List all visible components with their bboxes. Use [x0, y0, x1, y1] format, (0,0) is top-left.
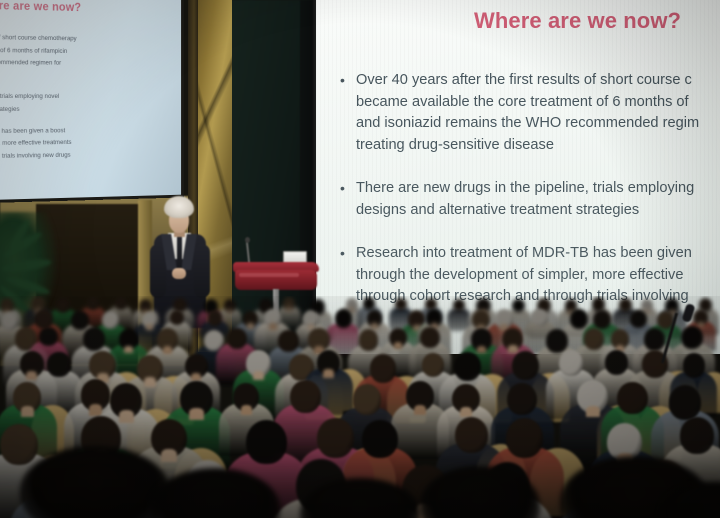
slide-bullet-group: •There are new drugs in the pipeline, tr… — [340, 178, 720, 221]
side-slide-line: ns the WHO recommended regimen for — [0, 57, 176, 71]
slide-bullet-line: treating drug-sensitive disease — [356, 135, 699, 157]
audience-person-neck — [189, 408, 204, 420]
audience-person-head — [246, 420, 287, 464]
audience-person-head — [454, 352, 481, 381]
audience-person-head — [87, 297, 99, 310]
speaker-right-arm — [194, 244, 210, 298]
audience-person-head — [570, 309, 588, 328]
audience-person-neck — [161, 449, 177, 463]
audience-person-neck — [119, 410, 134, 422]
audience-person-neck — [247, 323, 254, 329]
audience-person-head — [115, 297, 127, 310]
main-slide-body: •Over 40 years after the first results o… — [340, 70, 720, 330]
side-slide-line: tive treatment strategies — [0, 104, 176, 117]
audience-person-head — [359, 329, 379, 350]
audience-person-head — [512, 351, 539, 380]
audience-person-neck — [508, 345, 517, 353]
audience-person-neck — [253, 371, 264, 380]
audience-person-head — [546, 329, 568, 352]
slide-bullet-text: Over 40 years after the first results of… — [356, 70, 699, 156]
audience-person-neck — [146, 324, 153, 330]
audience-person-neck — [269, 323, 277, 330]
audience-person-head — [353, 384, 382, 415]
audience-person-head — [395, 298, 407, 311]
audience-person-head — [644, 328, 665, 351]
side-slide-body: the first results of short course chemot… — [0, 31, 176, 173]
audience-person-head — [593, 310, 611, 329]
audience-person-neck — [323, 369, 333, 378]
audience-person-neck — [21, 406, 34, 417]
side-slide-paragraph: s in the pipeline, trials employing nove… — [0, 91, 176, 116]
audience-person-head — [680, 417, 714, 454]
audience-person-neck — [414, 405, 426, 415]
audience-person-head — [83, 327, 105, 351]
audience-person-head — [507, 383, 537, 415]
audience-person-neck — [698, 322, 705, 327]
audience-person-neck — [394, 342, 402, 349]
slide-bullet-line: Over 40 years after the first results of… — [356, 70, 699, 92]
audience-person-neck — [371, 323, 378, 329]
audience-person-head — [1, 312, 18, 330]
side-slide-title: Where are we now? — [0, 0, 81, 14]
audience-person-head — [681, 326, 703, 349]
bullet-marker-icon: • — [340, 70, 356, 156]
bullet-marker-icon: • — [340, 178, 356, 221]
side-slide-line: ve disease — [0, 70, 176, 84]
side-slide-line: arch and through trials involving new dr… — [0, 148, 176, 164]
audience-person-head — [363, 297, 375, 310]
audience-person-head — [669, 385, 701, 420]
audience-person-head — [422, 353, 445, 377]
podium-microphone-icon — [245, 237, 250, 243]
audience-person-head — [290, 380, 321, 413]
audience-person-neck — [477, 346, 486, 354]
audience-person-head — [56, 298, 70, 313]
audience-person-head — [39, 327, 57, 347]
slide-bullet-line: and isoniazid remains the WHO recommende… — [356, 113, 699, 135]
side-slide-line: s in the pipeline, trials employing nove… — [0, 91, 176, 104]
audience-person-head — [619, 298, 632, 312]
side-projection-screen: Where are we now? the first results of s… — [0, 0, 181, 200]
audience-person-head — [370, 354, 396, 382]
audience-person-head — [227, 328, 247, 349]
audience-person-head — [208, 310, 222, 325]
audience-person-head — [630, 310, 647, 328]
audience-person-head — [317, 418, 354, 458]
audience-person-head — [605, 350, 628, 375]
audience-person-head — [532, 309, 548, 326]
speaker-hair — [164, 196, 194, 218]
audience-person-neck — [586, 406, 600, 418]
audience-person-head — [420, 327, 440, 348]
palm-frond — [1, 257, 52, 274]
slide-bullet-line: Research into treatment of MDR-TB has be… — [356, 243, 692, 265]
audience-person-head — [47, 352, 70, 377]
audience-person-neck — [26, 371, 37, 380]
audience-crowd — [0, 296, 720, 518]
speaker-hands — [172, 268, 186, 279]
audience-person-neck — [227, 309, 232, 314]
audience-person-head — [455, 417, 488, 453]
slide-bullet-line: designs and alternative treatment strate… — [356, 200, 694, 222]
audience-person-neck — [644, 309, 649, 313]
audience-person-head — [362, 420, 397, 458]
audience-person-head — [102, 311, 118, 329]
conference-photo-stage: Where are we now? the first results of s… — [0, 0, 720, 518]
audience-person-neck — [460, 407, 472, 417]
side-slide-paragraph: the first results of short course chemot… — [0, 31, 176, 83]
audience-person-neck — [241, 405, 253, 415]
slide-bullet-line: became available the core treatment of 6… — [356, 92, 699, 114]
audience-person-head — [559, 350, 583, 376]
audience-person-head — [335, 309, 352, 327]
audience-person-head — [170, 310, 184, 325]
podium-highlight — [239, 273, 299, 277]
slide-bullet-line: There are new drugs in the pipeline, tri… — [356, 178, 694, 200]
audience-person-head — [683, 353, 706, 377]
audience-person-head — [71, 311, 88, 330]
audience-person-head — [617, 382, 647, 415]
audience-person-head — [35, 309, 53, 329]
slide-bullet-line: through the development of simpler, more… — [356, 265, 692, 287]
audience-person-neck — [144, 377, 156, 387]
audience-person-neck — [124, 346, 133, 353]
audience-person-neck — [286, 307, 291, 311]
slide-bullet-text: There are new drugs in the pipeline, tri… — [356, 178, 694, 221]
audience-person-neck — [163, 346, 173, 354]
audience-person-head — [278, 330, 298, 352]
audience-person-head — [0, 424, 38, 465]
side-slide-paragraph: ment of MDR-TB has been given a boostpme… — [0, 124, 176, 164]
main-slide-title: Where are we now? — [474, 8, 681, 34]
audience-person-head — [584, 328, 605, 350]
slide-bullet-group: •Over 40 years after the first results o… — [340, 70, 720, 156]
audience-person-head — [506, 418, 543, 458]
audience-person-head — [453, 299, 465, 311]
